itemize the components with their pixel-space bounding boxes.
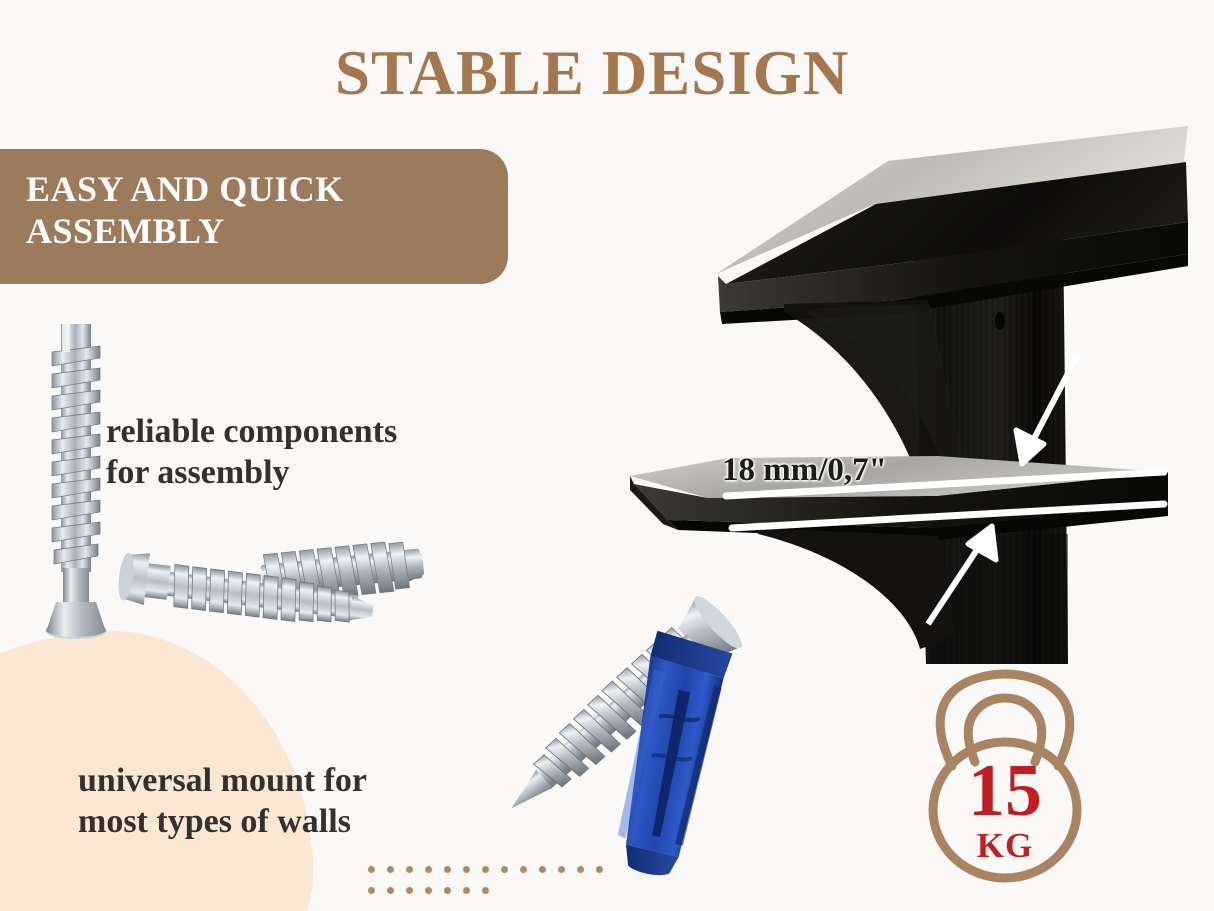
dot bbox=[558, 866, 565, 873]
page-title: STABLE DESIGN bbox=[335, 42, 895, 105]
dot bbox=[520, 866, 527, 873]
feature-1-line-2: for assembly bbox=[106, 452, 526, 493]
dot bbox=[482, 887, 489, 894]
dot bbox=[539, 866, 546, 873]
vertical-shelf-screw bbox=[36, 316, 118, 646]
dot bbox=[406, 866, 413, 873]
dot bbox=[463, 866, 470, 873]
dot bbox=[425, 887, 432, 894]
shelf-thickness-label: 18 mm/0,7" bbox=[722, 452, 887, 489]
infographic-canvas: STABLE DESIGN EASY AND QUICK ASSEMBLY re… bbox=[0, 0, 1214, 911]
dot-grid-decoration bbox=[368, 866, 618, 894]
feature-text-universal-mount: universal mount for most types of walls bbox=[78, 760, 508, 843]
weight-unit: KG bbox=[905, 828, 1105, 863]
dot bbox=[501, 866, 508, 873]
upper-shelf-slab bbox=[716, 126, 1188, 324]
dot bbox=[577, 866, 584, 873]
dot bbox=[463, 887, 470, 894]
easy-assembly-badge: EASY AND QUICK ASSEMBLY bbox=[0, 149, 508, 284]
lower-bracket-wedge bbox=[758, 528, 956, 649]
dot bbox=[425, 866, 432, 873]
blue-wall-plug bbox=[608, 630, 738, 880]
horizontal-screws-pair bbox=[112, 530, 432, 650]
peach-blob-decoration bbox=[0, 605, 338, 911]
dot bbox=[368, 866, 375, 873]
weight-value: 15 bbox=[905, 754, 1105, 828]
feature-1-line-1: reliable components bbox=[106, 411, 526, 452]
badge-line-1: EASY AND QUICK bbox=[26, 169, 508, 211]
dot bbox=[368, 887, 375, 894]
dot bbox=[387, 866, 394, 873]
feature-text-reliable-components: reliable components for assembly bbox=[106, 411, 526, 494]
feature-2-line-2: most types of walls bbox=[78, 801, 508, 842]
dot bbox=[444, 887, 451, 894]
dot bbox=[406, 887, 413, 894]
feature-2-line-1: universal mount for bbox=[78, 760, 508, 801]
lower-shelf-slab bbox=[630, 456, 1168, 540]
dot bbox=[444, 866, 451, 873]
dot bbox=[387, 887, 394, 894]
weight-capacity-badge: 15 KG bbox=[905, 662, 1105, 887]
badge-line-2: ASSEMBLY bbox=[26, 211, 508, 253]
dot bbox=[596, 866, 603, 873]
dot bbox=[482, 866, 489, 873]
